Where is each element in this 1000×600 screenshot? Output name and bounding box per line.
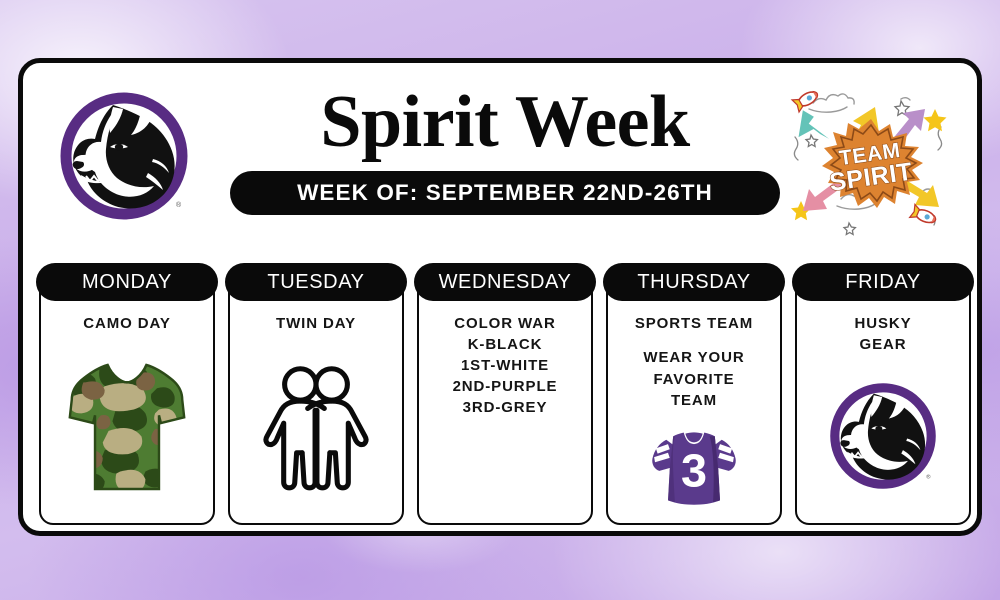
- day-line: WEAR YOUR: [612, 347, 776, 368]
- day-name-wednesday: WEDNESDAY: [439, 271, 572, 294]
- twin-people-icon: [230, 334, 402, 523]
- team-spirit-graphic: TEAM SPIRIT: [783, 79, 959, 239]
- day-text-tuesday: TWIN DAY: [230, 313, 402, 334]
- day-line: SPORTS TEAM: [612, 313, 776, 334]
- day-header-tuesday: TUESDAY: [225, 263, 407, 301]
- week-banner-text: WEEK OF: SEPTEMBER 22ND-26TH: [297, 180, 713, 206]
- day-card-tuesday[interactable]: TUESDAY TWIN DAY: [228, 273, 404, 525]
- week-banner: WEEK OF: SEPTEMBER 22ND-26TH: [230, 171, 780, 215]
- svg-text:®: ®: [176, 201, 182, 209]
- day-text-monday: CAMO DAY: [41, 313, 213, 334]
- day-line: 1ST-WHITE: [423, 355, 587, 376]
- title-block: Spirit Week WEEK OF: SEPTEMBER 22ND-26TH: [213, 85, 797, 215]
- day-card-wednesday[interactable]: WEDNESDAY COLOR WAR K-BLACK 1ST-WHITE 2N…: [417, 273, 593, 525]
- day-line: CAMO DAY: [45, 313, 209, 334]
- day-text-friday: HUSKY GEAR: [797, 313, 969, 356]
- day-line: FAVORITE: [612, 369, 776, 390]
- wednesday-icon-empty: [419, 418, 591, 523]
- day-name-thursday: THURSDAY: [637, 271, 750, 294]
- day-line: TEAM: [612, 390, 776, 411]
- day-card-thursday[interactable]: THURSDAY SPORTS TEAM WEAR YOUR FAVORITE …: [606, 273, 782, 525]
- day-text-thursday: SPORTS TEAM WEAR YOUR FAVORITE TEAM: [608, 313, 780, 411]
- day-line: GEAR: [801, 334, 965, 355]
- husky-logo-icon: ®: [797, 356, 969, 523]
- svg-text:®: ®: [926, 474, 931, 481]
- day-line: TWIN DAY: [234, 313, 398, 334]
- camo-tshirt-icon: [41, 334, 213, 523]
- jersey-number: 3: [681, 445, 707, 497]
- day-cards-row: MONDAY CAMO DAY: [39, 263, 971, 525]
- day-name-friday: FRIDAY: [845, 271, 920, 294]
- day-header-monday: MONDAY: [36, 263, 218, 301]
- day-line: K-BLACK: [423, 334, 587, 355]
- day-card-monday[interactable]: MONDAY CAMO DAY: [39, 273, 215, 525]
- day-name-tuesday: TUESDAY: [267, 271, 364, 294]
- day-header-thursday: THURSDAY: [603, 263, 785, 301]
- page-title: Spirit Week: [213, 85, 797, 159]
- day-header-wednesday: WEDNESDAY: [414, 263, 596, 301]
- husky-logo: ®: [53, 85, 195, 227]
- header: ® Spirit Week WEEK OF: SEPTEMBER 22ND-26…: [23, 63, 977, 249]
- day-line: 3RD-GREY: [423, 397, 587, 418]
- main-panel: ® Spirit Week WEEK OF: SEPTEMBER 22ND-26…: [18, 58, 982, 536]
- day-line: HUSKY: [801, 313, 965, 334]
- day-line-spacer: [612, 334, 776, 347]
- day-line: 2ND-PURPLE: [423, 376, 587, 397]
- day-header-friday: FRIDAY: [792, 263, 974, 301]
- day-name-monday: MONDAY: [82, 271, 172, 294]
- football-jersey-icon: 3: [608, 411, 780, 523]
- day-text-wednesday: COLOR WAR K-BLACK 1ST-WHITE 2ND-PURPLE 3…: [419, 313, 591, 418]
- day-line: COLOR WAR: [423, 313, 587, 334]
- day-card-friday[interactable]: FRIDAY HUSKY GEAR: [795, 273, 971, 525]
